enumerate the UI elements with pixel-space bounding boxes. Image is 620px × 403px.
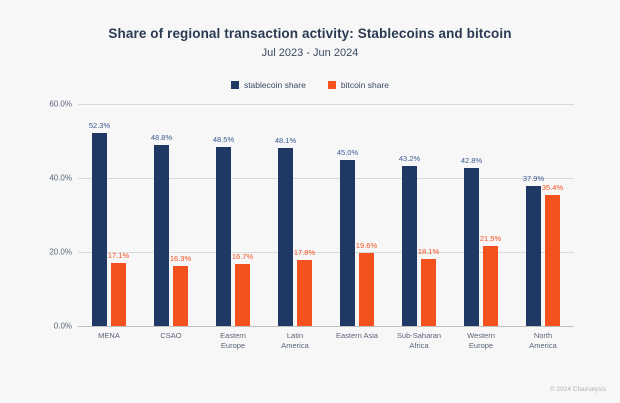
bar-stablecoin[interactable]: 37.9% xyxy=(526,186,541,326)
bar-group: 43.2%18.1% xyxy=(390,104,448,326)
bar-group: 52.3%17.1% xyxy=(80,104,138,326)
bar-value-label: 35.4% xyxy=(542,183,563,192)
bar-stablecoin[interactable]: 48.1% xyxy=(278,148,293,326)
x-axis-category-label: LatinAmerica xyxy=(266,331,324,351)
bar-value-label: 18.1% xyxy=(418,247,439,256)
bar-stablecoin[interactable]: 42.8% xyxy=(464,168,479,326)
bar-group: 42.8%21.5% xyxy=(452,104,510,326)
y-axis-tick-label: 0.0% xyxy=(28,322,72,331)
bar-stablecoin[interactable]: 48.5% xyxy=(216,147,231,326)
bar-bitcoin[interactable]: 17.1% xyxy=(111,263,126,326)
chart-footer: © 2024 Chainalysis xyxy=(550,386,606,393)
bar-bitcoin[interactable]: 17.8% xyxy=(297,260,312,326)
x-axis-category-label: Sub-SaharanAfrica xyxy=(390,331,448,351)
bar-bitcoin[interactable]: 16.3% xyxy=(173,266,188,326)
bar-groups: 52.3%17.1%48.8%16.3%48.5%16.7%48.1%17.8%… xyxy=(78,104,574,326)
bar-group: 45.0%19.6% xyxy=(328,104,386,326)
bar-group: 48.1%17.8% xyxy=(266,104,324,326)
x-axis-line xyxy=(78,326,574,327)
bar-value-label: 48.5% xyxy=(213,135,234,144)
chart-title: Share of regional transaction activity: … xyxy=(0,26,620,41)
y-axis-tick-label: 20.0% xyxy=(28,248,72,257)
chart-subtitle: Jul 2023 - Jun 2024 xyxy=(0,47,620,59)
x-axis-category-label: WesternEurope xyxy=(452,331,510,351)
bar-value-label: 48.1% xyxy=(275,136,296,145)
bar-bitcoin[interactable]: 35.4% xyxy=(545,195,560,326)
bar-value-label: 17.8% xyxy=(294,248,315,257)
plot-area: 52.3%17.1%48.8%16.3%48.5%16.7%48.1%17.8%… xyxy=(78,104,574,326)
legend-item-bitcoin[interactable]: bitcoin share xyxy=(328,80,389,90)
bar-bitcoin[interactable]: 16.7% xyxy=(235,264,250,326)
chart-legend: stablecoin share bitcoin share xyxy=(0,80,620,90)
y-axis-tick-label: 60.0% xyxy=(28,100,72,109)
bar-value-label: 37.9% xyxy=(523,174,544,183)
bar-stablecoin[interactable]: 52.3% xyxy=(92,133,107,327)
x-axis-category-label: Eastern Asia xyxy=(328,331,386,351)
legend-label-bitcoin: bitcoin share xyxy=(341,80,389,90)
bar-bitcoin[interactable]: 18.1% xyxy=(421,259,436,326)
bar-value-label: 19.6% xyxy=(356,241,377,250)
bar-value-label: 17.1% xyxy=(108,251,129,260)
legend-label-stablecoin: stablecoin share xyxy=(244,80,306,90)
legend-swatch-bitcoin xyxy=(328,81,336,89)
bar-value-label: 52.3% xyxy=(89,121,110,130)
bar-stablecoin[interactable]: 43.2% xyxy=(402,166,417,326)
chart-page: Share of regional transaction activity: … xyxy=(0,0,620,403)
x-axis-labels: MENACSAOEasternEuropeLatinAmericaEastern… xyxy=(78,331,574,351)
bar-stablecoin[interactable]: 45.0% xyxy=(340,160,355,327)
bar-value-label: 48.8% xyxy=(151,133,172,142)
bar-group: 48.5%16.7% xyxy=(204,104,262,326)
bar-group: 48.8%16.3% xyxy=(142,104,200,326)
bar-bitcoin[interactable]: 21.5% xyxy=(483,246,498,326)
legend-swatch-stablecoin xyxy=(231,81,239,89)
bar-value-label: 45.0% xyxy=(337,148,358,157)
y-axis-tick-label: 40.0% xyxy=(28,174,72,183)
bar-stablecoin[interactable]: 48.8% xyxy=(154,145,169,326)
bar-group: 37.9%35.4% xyxy=(514,104,572,326)
legend-item-stablecoin[interactable]: stablecoin share xyxy=(231,80,306,90)
bar-value-label: 43.2% xyxy=(399,154,420,163)
y-axis-labels: 0.0%20.0%40.0%60.0% xyxy=(28,104,72,326)
bar-value-label: 42.8% xyxy=(461,156,482,165)
x-axis-category-label: EasternEurope xyxy=(204,331,262,351)
bar-value-label: 16.7% xyxy=(232,252,253,261)
x-axis-category-label: NorthAmerica xyxy=(514,331,572,351)
bar-value-label: 16.3% xyxy=(170,254,191,263)
bar-value-label: 21.5% xyxy=(480,234,501,243)
bar-bitcoin[interactable]: 19.6% xyxy=(359,253,374,326)
x-axis-category-label: MENA xyxy=(80,331,138,351)
x-axis-category-label: CSAO xyxy=(142,331,200,351)
